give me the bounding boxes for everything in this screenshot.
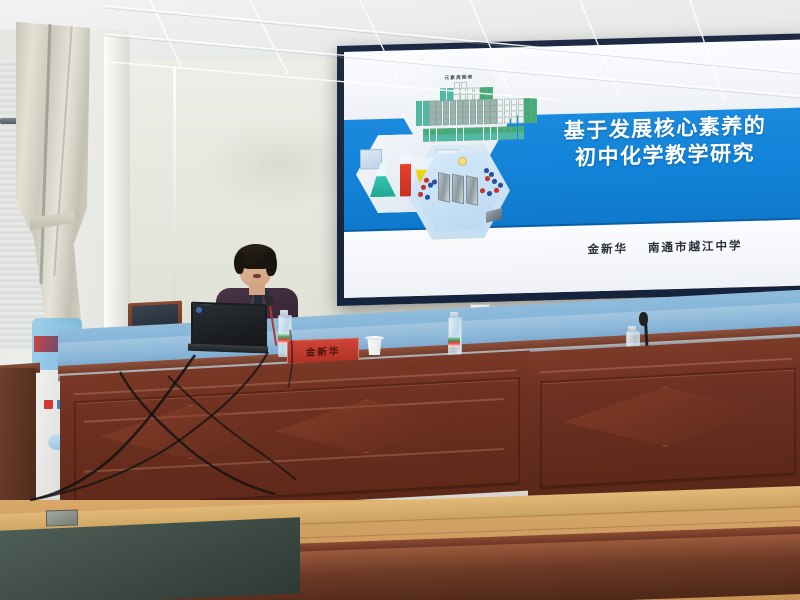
molecule-atom [498,183,503,188]
periodic-table-cell [511,116,517,123]
molecule-atom [494,188,499,193]
molecule-atom [424,178,429,183]
wall-shadow [200,120,360,210]
molecule-atom [489,172,494,177]
periodic-table-cell [450,118,456,125]
laptop-logo [196,307,202,313]
molecule-atom [421,185,426,190]
periodic-table-caption: 元素周期表 [416,74,502,82]
molecule-atom [485,176,490,181]
periodic-table-cell [429,119,435,126]
molecule-atom [425,195,430,200]
electrode-plate [438,172,450,203]
molecule-atom [492,179,497,184]
speaker-hair-side [234,252,244,274]
periodic-table-cell [498,133,504,140]
photo-scene: 元素周期表 基于发展核心素养的 初中化学教学研究 金新华南通市越江中学 [0,0,800,600]
hot-water-tap[interactable] [44,400,53,409]
periodic-table-cell [470,133,476,140]
periodic-table-cell [490,117,496,124]
paper-cup-rim [365,336,384,340]
molecule-atom [432,179,437,184]
electrode-plate [466,175,478,206]
periodic-table-cell [436,118,442,125]
desk-front-panel-left [60,351,530,516]
presenter-name: 金新华 [588,241,629,256]
desk-front-panel-right [528,337,800,502]
periodic-table-cell [518,116,524,123]
nameplate-text: 金新华 [306,343,341,358]
periodic-table-cell [504,132,510,139]
periodic-table-cell [524,116,530,123]
periodic-table-cell [491,133,497,140]
periodic-table-cell [443,134,449,141]
slide-title: 基于发展核心素养的 初中化学教学研究 [540,112,790,173]
periodic-table-cell [504,117,510,124]
periodic-table-cell [430,135,436,142]
periodic-table-cell [457,118,463,125]
molecule-atom [480,188,485,193]
periodic-table-graphic: 元素周期表 [416,74,502,152]
periodic-table-cell [450,134,456,141]
electrode-plate [452,174,464,205]
periodic-table-cell [457,134,463,141]
periodic-table-cell [484,117,490,124]
floor-outlet[interactable] [46,509,78,526]
speaker-hair-side [266,252,277,276]
periodic-table-cell [423,119,429,126]
periodic-table-cell [463,118,469,125]
molecule-atom [484,168,489,173]
periodic-table-cell [531,116,537,123]
projection-screen: 元素周期表 基于发展核心素养的 初中化学教学研究 金新华南通市越江中学 [344,40,800,298]
molecule-atom [487,191,492,196]
periodic-table-cell [497,117,503,124]
periodic-table-cell [484,133,490,140]
wall-corner [104,36,130,366]
presenter-affiliation: 南通市越江中学 [648,238,743,255]
periodic-table-cell [470,117,476,124]
periodic-table-cell [511,132,517,139]
molecule-atom [418,192,423,197]
speaker-microphone-head [266,296,274,306]
speaker-mouth [253,274,261,278]
periodic-table-cell [477,117,483,124]
periodic-table-cell [416,119,422,126]
test-tube-red-icon [400,154,411,196]
periodic-table-cell [423,135,429,142]
lab-tile-icon [360,149,382,170]
periodic-table-cell [437,134,443,141]
periodic-table-cell [464,134,470,141]
periodic-table-cell [443,118,449,125]
dark-floor-panel [0,517,300,600]
slide-bottom-band [344,220,800,298]
periodic-table-cell [518,132,524,139]
periodic-table-cell [477,133,483,140]
